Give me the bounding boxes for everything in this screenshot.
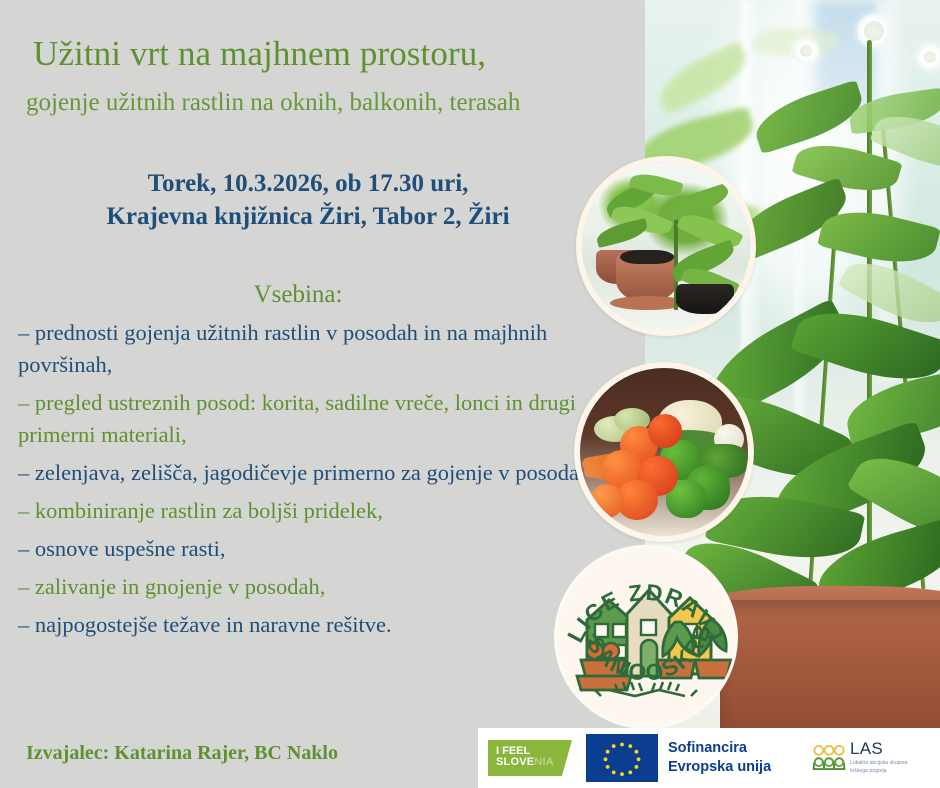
event-datetime: Torek, 10.3.2026, ob 17.30 uri, [28,167,588,200]
list-item: – najpogostejše težave in naravne rešitv… [18,609,608,641]
page-subtitle: gojenje užitnih rastlin na oknih, balkon… [26,88,656,118]
list-item: – pregled ustreznih posod: korita, sadil… [18,387,608,451]
i-feel-slovenia-dim: NIA [534,756,554,768]
i-feel-slovenia-line2: SLOVENIA [496,757,572,768]
tomato [648,414,682,448]
eu-funding-text: Sofinancira Evropska unija [668,739,771,776]
small-pot-soil [676,284,734,314]
pepper-flower [793,38,819,64]
content-heading: Vsebina: [28,281,568,309]
small-pot-soil [620,250,674,264]
list-item: – osnove uspešne rasti, [18,533,608,565]
las-title: LAS [850,740,926,757]
event-location: Krajevna knjižnica Žiri, Tabor 2, Žiri [28,200,588,233]
eu-stars [586,734,658,782]
eu-funding-line1: Sofinancira [668,739,771,758]
background-leaf [652,41,754,115]
i-feel-slovenia-logo: I FEEL SLOVENIA [488,740,572,776]
presenter-line: Izvajalec: Katarina Rajer, BC Naklo [26,742,338,765]
list-item: – kombiniranje rastlin za boljši pridele… [18,495,608,527]
page-title: Užitni vrt na majhnem prostoru, [33,34,633,73]
ulice-zdravja-badge: ULICE ZDRAVJA IN SAMOOSKRBE [557,548,735,726]
las-text: LAS Lokalna akcijska skupina loškega pog… [850,740,926,775]
eu-funding-line2: Evropska unija [668,758,771,777]
content-list: – prednosti gojenja užitnih rastlin v po… [18,317,608,646]
eu-flag-icon [586,734,658,782]
herbs-photo [576,156,756,336]
tomato [590,484,624,518]
las-people-icon [812,743,846,773]
event-details: Torek, 10.3.2026, ob 17.30 uri, Krajevna… [28,167,588,233]
funding-logo-bar: I FEEL SLOVENIA Sofinancira Evropska uni… [478,728,940,788]
list-item: – zelenjava, zelišča, jagodičevje primer… [18,457,608,489]
las-subtitle: Lokalna akcijska skupina loškega pogorja [850,760,926,775]
list-item: – prednosti gojenja užitnih rastlin v po… [18,317,608,381]
flower-pot [695,660,731,678]
poster-canvas: Užitni vrt na majhnem prostoru, gojenje … [0,0,940,788]
las-logo: LAS Lokalna akcijska skupina loškega pog… [812,740,926,775]
list-item: – zalivanje in gnojenje v posodah, [18,571,608,603]
vegetables-photo [574,362,754,542]
house-window [613,624,626,637]
badge-artwork: ULICE ZDRAVJA IN SAMOOSKRBE [557,548,735,726]
pepper-flower [857,14,891,48]
pepper-flower [917,44,940,70]
house-window [641,620,656,635]
i-feel-slovenia-bright: SLOVE [496,756,534,768]
